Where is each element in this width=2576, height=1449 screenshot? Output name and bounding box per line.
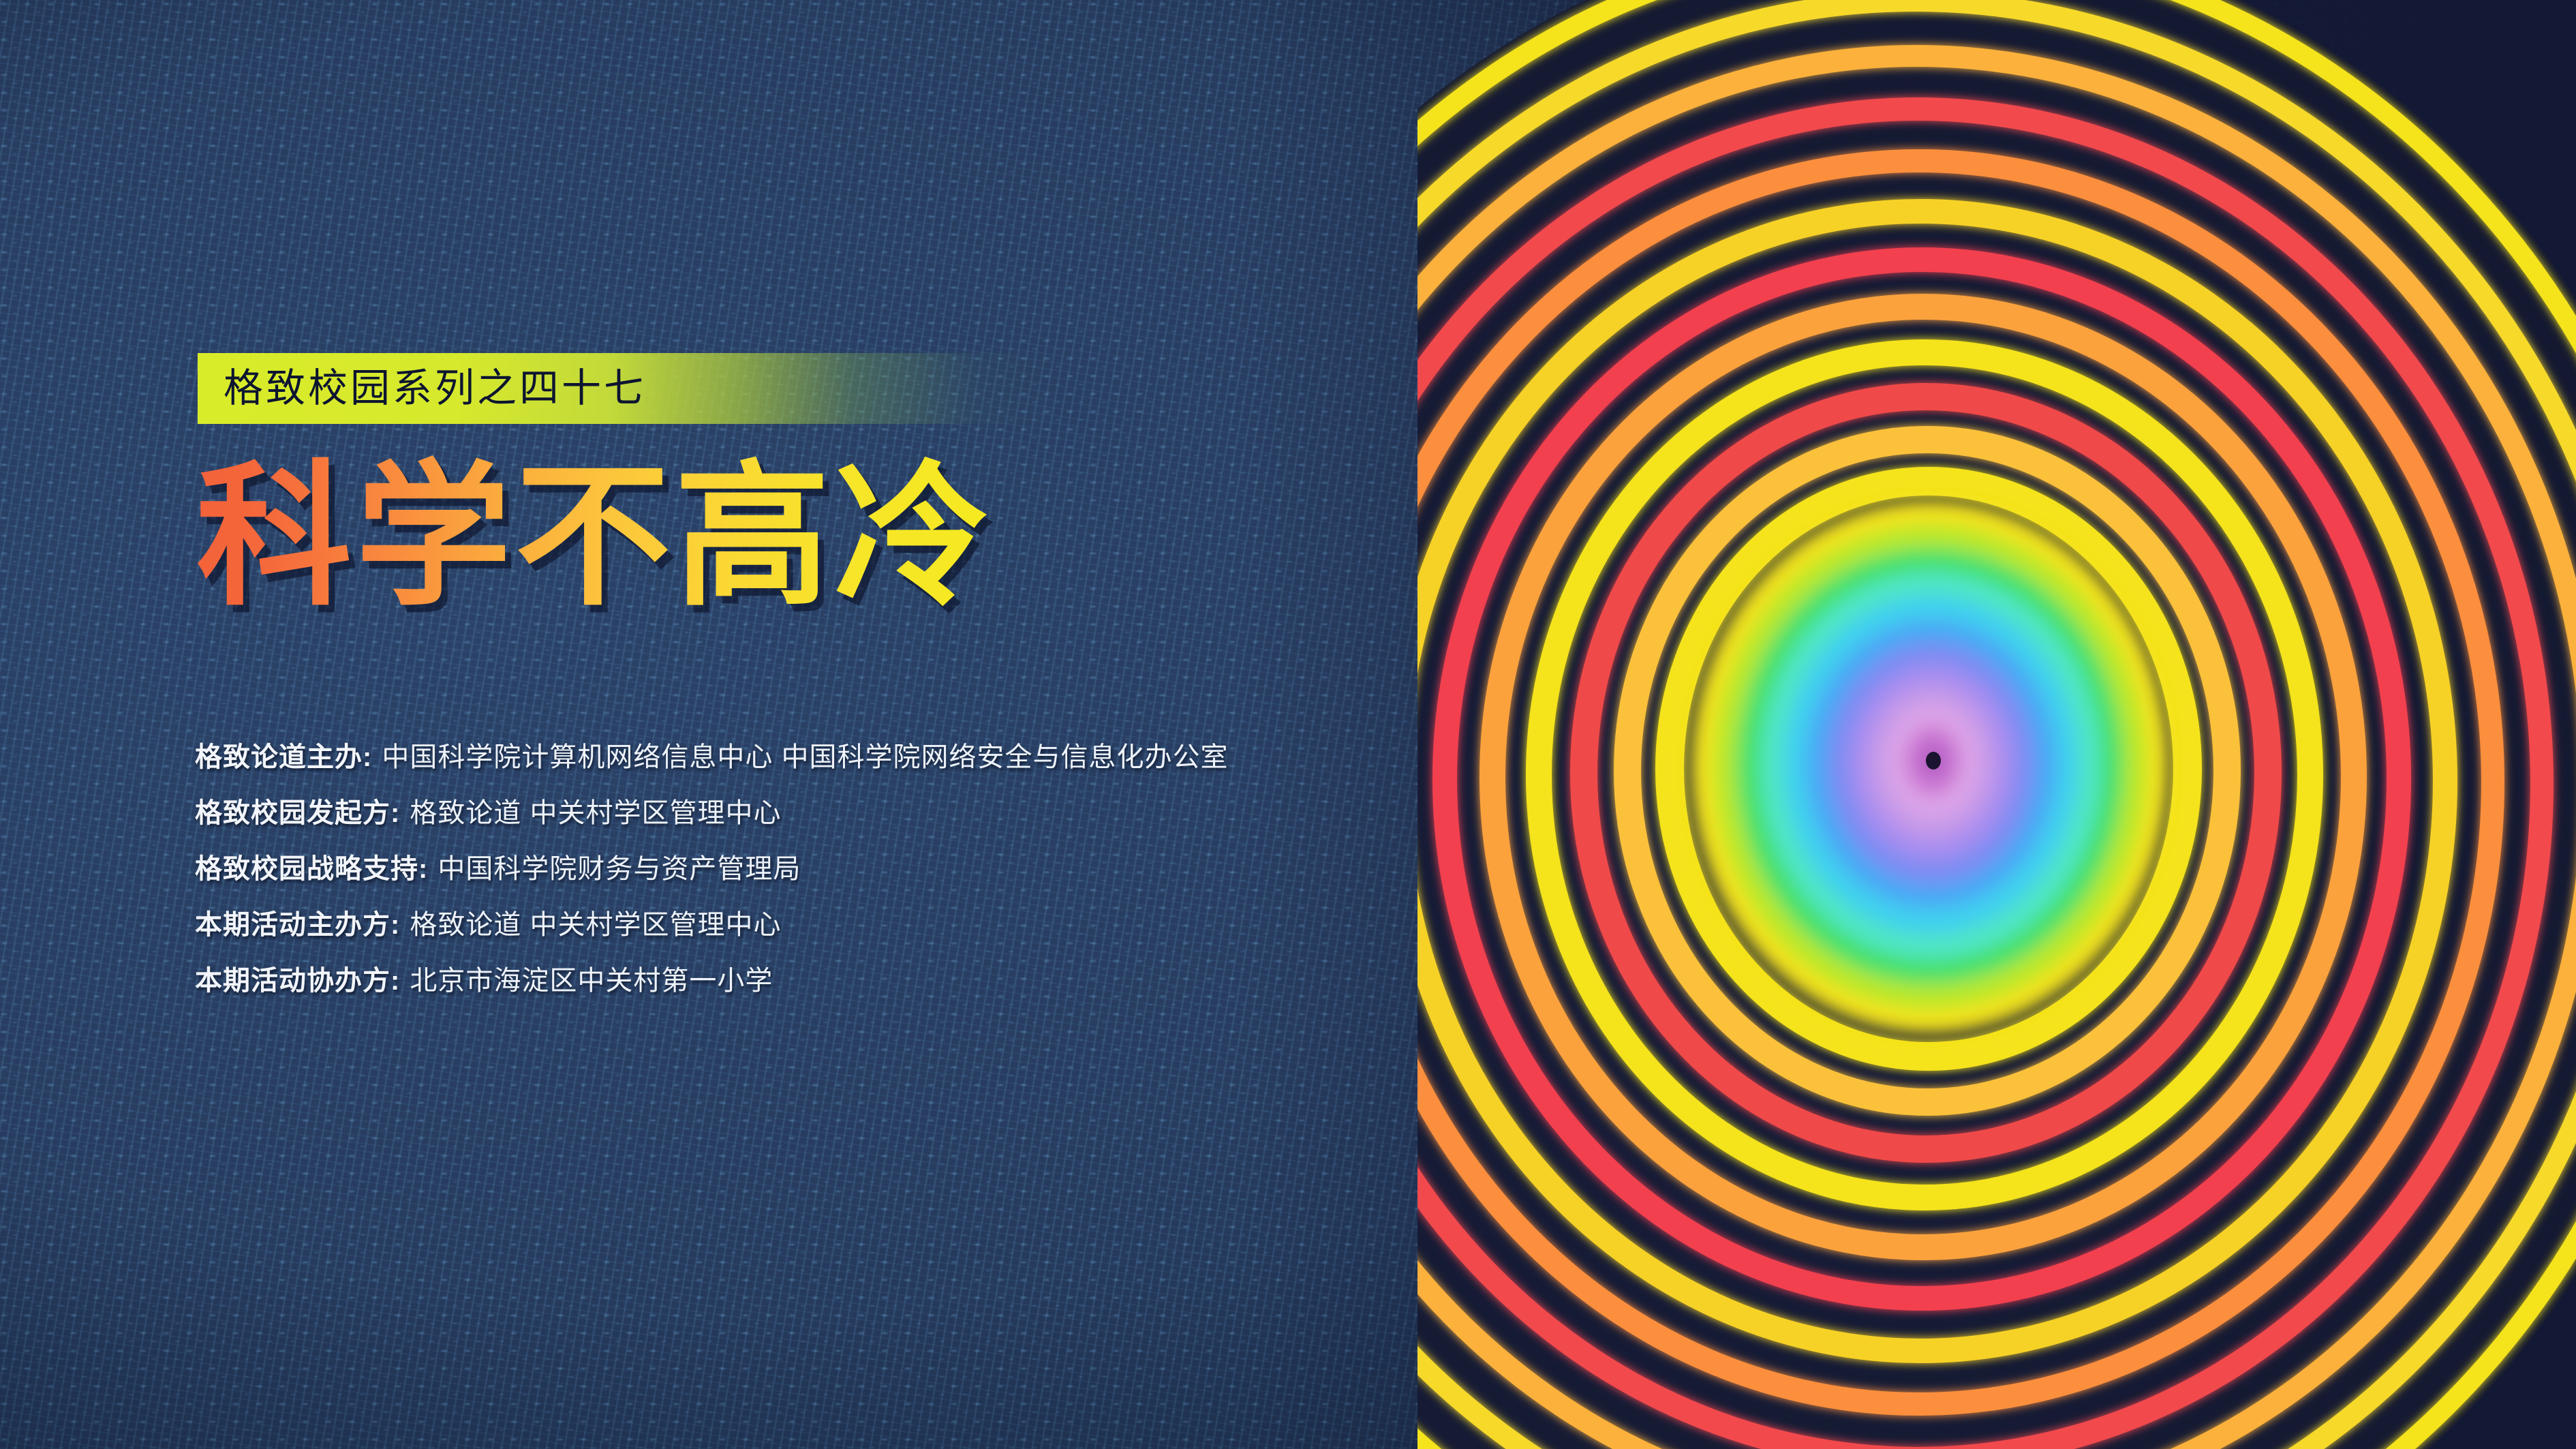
spiral-graphic bbox=[1417, 0, 2576, 1449]
credit-row: 本期活动协办方: 北京市海淀区中关村第一小学 bbox=[195, 958, 1422, 998]
page-title: 科学不高冷 bbox=[196, 455, 994, 620]
credit-label: 格致校园发起方: bbox=[195, 791, 400, 830]
series-ribbon: 格致校园系列之四十七 bbox=[198, 353, 1063, 424]
series-ribbon-label: 格致校园系列之四十七 bbox=[224, 369, 646, 408]
credit-value: 格致论道 中关村学区管理中心 bbox=[410, 791, 781, 830]
credit-row: 格致论道主办: 中国科学院计算机网络信息中心 中国科学院网络安全与信息化办公室 bbox=[195, 735, 1422, 774]
credit-row: 格致校园发起方: 格致论道 中关村学区管理中心 bbox=[195, 791, 1422, 830]
poster-canvas: 格致校园系列之四十七 科学不高冷 格致论道主办: 中国科学院计算机网络信息中心 … bbox=[0, 0, 2576, 1449]
credit-value: 格致论道 中关村学区管理中心 bbox=[410, 902, 781, 942]
spiral-core-dot bbox=[1926, 752, 1941, 769]
credit-value: 中国科学院计算机网络信息中心 中国科学院网络安全与信息化办公室 bbox=[382, 735, 1228, 774]
credit-value: 北京市海淀区中关村第一小学 bbox=[410, 958, 773, 998]
credit-row: 本期活动主办方: 格致论道 中关村学区管理中心 bbox=[195, 902, 1422, 942]
credit-label: 格致论道主办: bbox=[195, 735, 372, 774]
credit-label: 本期活动协办方: bbox=[195, 958, 400, 998]
credit-label: 格致校园战略支持: bbox=[195, 846, 428, 886]
credit-value: 中国科学院财务与资产管理局 bbox=[438, 846, 801, 886]
credit-row: 格致校园战略支持: 中国科学院财务与资产管理局 bbox=[195, 846, 1422, 886]
credit-label: 本期活动主办方: bbox=[195, 902, 400, 942]
credits-block: 格致论道主办: 中国科学院计算机网络信息中心 中国科学院网络安全与信息化办公室 … bbox=[195, 735, 1422, 998]
